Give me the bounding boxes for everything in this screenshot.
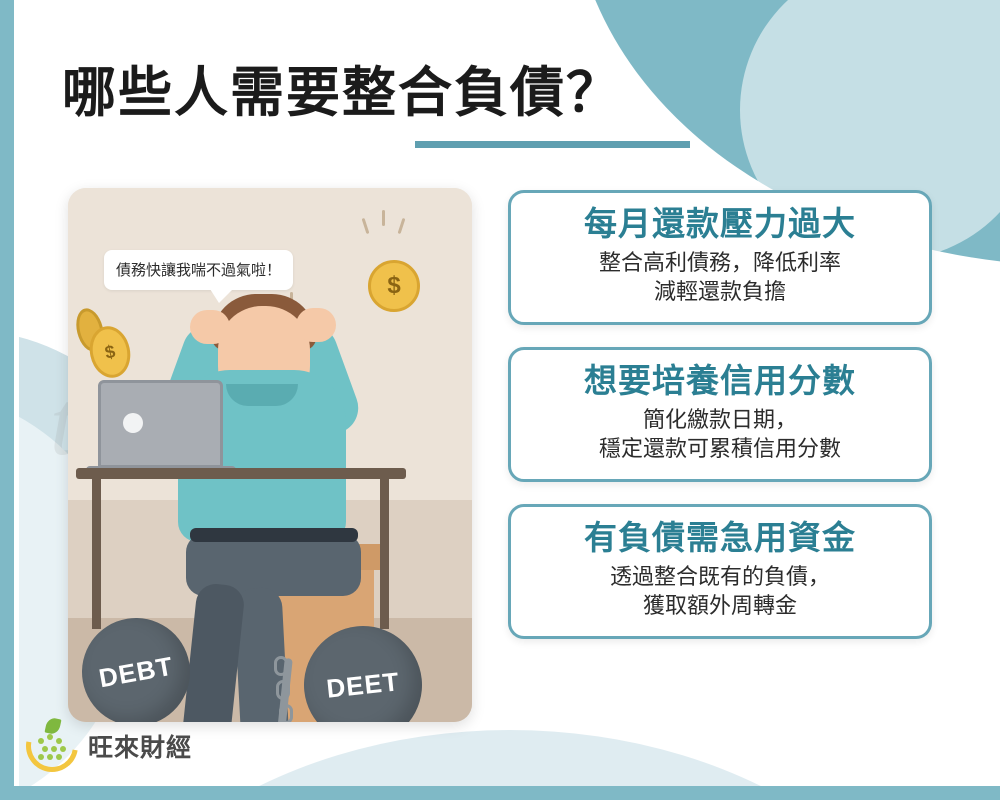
desk-leg [92, 479, 101, 629]
laptop-screen-glare [123, 413, 143, 433]
coin-icon: $ [368, 260, 420, 312]
brand-logo: 旺來財經 [26, 718, 192, 774]
laptop-screen [98, 380, 223, 468]
reason-card-3-body: 透過整合既有的負債， 獲取額外周轉金 [527, 562, 913, 620]
reason-card-2: 想要培養信用分數 簡化繳款日期， 穩定還款可累積信用分數 [508, 347, 932, 482]
reason-card-2-line-1: 簡化繳款日期， [527, 405, 913, 434]
reason-card-1-line-1: 整合高利債務，降低利率 [527, 248, 913, 277]
person-hand-left [190, 310, 230, 344]
reason-card-3: 有負債需急用資金 透過整合既有的負債， 獲取額外周轉金 [508, 504, 932, 639]
pineapple-moon-logo-icon [26, 718, 82, 774]
chain-link-icon [274, 656, 288, 676]
reason-card-1: 每月還款壓力過大 整合高利債務，降低利率 減輕還款負擔 [508, 190, 932, 325]
frame-border-left [0, 0, 14, 800]
reason-card-1-line-2: 減輕還款負擔 [527, 277, 913, 306]
desk-top [76, 468, 406, 479]
reason-card-3-title: 有負債需急用資金 [527, 519, 913, 558]
pineapple-dots-icon [38, 734, 68, 762]
reason-card-3-line-2: 獲取額外周轉金 [527, 591, 913, 620]
illustration-card: $ $ 債務快讓我喘不過氣啦！ DEBT DEET [68, 188, 472, 722]
reason-card-1-title: 每月還款壓力過大 [527, 205, 913, 244]
reason-card-2-body: 簡化繳款日期， 穩定還款可累積信用分數 [527, 405, 913, 463]
brand-name: 旺來財經 [88, 728, 192, 764]
page-title: 哪些人需要整合負債？ [62, 48, 690, 127]
reason-card-1-body: 整合高利債務，降低利率 減輕還款負擔 [527, 248, 913, 306]
title-underline [415, 141, 690, 148]
infographic-canvas: tuonline 哪些人需要整合負債？ $ $ 債務快讓我喘不過氣啦！ [0, 0, 1000, 800]
speech-bubble: 債務快讓我喘不過氣啦！ [104, 250, 293, 290]
person-collar [226, 384, 298, 406]
frame-border-bottom [0, 786, 1000, 800]
frame-border-left-inner [14, 0, 19, 800]
sparkle-icon [382, 210, 385, 226]
desk-leg [380, 479, 389, 629]
chain-link-icon [279, 704, 293, 722]
page-title-block: 哪些人需要整合負債？ [62, 48, 690, 148]
reason-card-list: 每月還款壓力過大 整合高利債務，降低利率 減輕還款負擔 想要培養信用分數 簡化繳… [508, 190, 932, 661]
reason-card-3-line-1: 透過整合既有的負債， [527, 562, 913, 591]
person-belt [190, 528, 358, 542]
reason-card-2-line-2: 穩定還款可累積信用分數 [527, 434, 913, 463]
chain-link-icon [276, 680, 290, 700]
person-hand-right [296, 308, 336, 342]
reason-card-2-title: 想要培養信用分數 [527, 362, 913, 401]
